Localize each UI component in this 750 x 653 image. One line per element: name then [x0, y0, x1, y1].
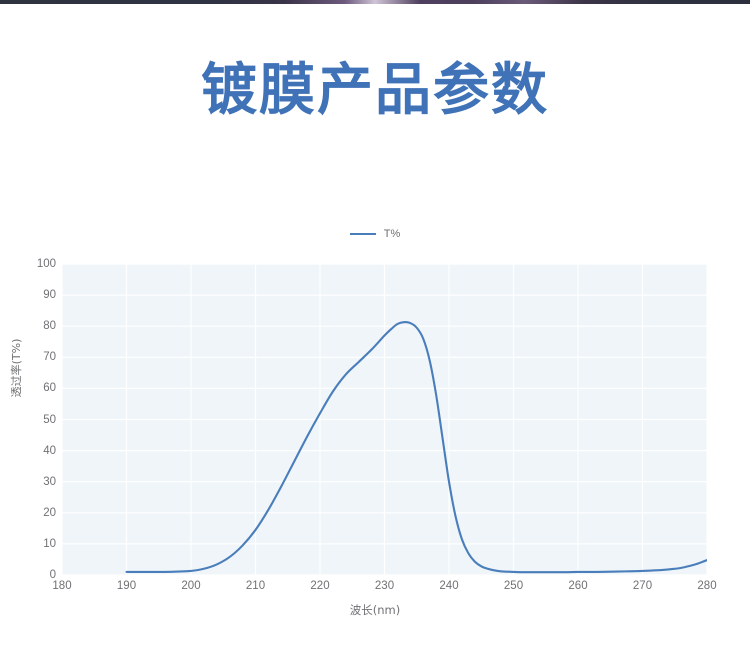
y-tick-label: 30	[16, 476, 56, 488]
x-axis-title: 波长(nm)	[0, 602, 750, 618]
x-tick-label: 220	[300, 580, 340, 592]
x-tick-label: 210	[236, 580, 276, 592]
chart-legend: T%	[0, 228, 750, 240]
plot-svg	[62, 264, 707, 575]
top-image-sliver	[0, 0, 750, 4]
transmittance-chart: T% 透过率(T%) 0102030405060708090100 180190…	[0, 210, 750, 620]
x-tick-label: 260	[558, 580, 598, 592]
y-tick-label: 80	[16, 320, 56, 332]
plot-area	[62, 264, 707, 575]
x-tick-label: 190	[107, 580, 147, 592]
x-tick-label: 250	[494, 580, 534, 592]
y-tick-label: 50	[16, 414, 56, 426]
x-tick-label: 280	[687, 580, 727, 592]
x-tick-label: 180	[42, 580, 82, 592]
x-tick-label: 240	[429, 580, 469, 592]
y-tick-label: 60	[16, 382, 56, 394]
y-tick-label: 10	[16, 538, 56, 550]
x-tick-label: 200	[171, 580, 211, 592]
grid-lines	[62, 264, 707, 575]
x-tick-label: 270	[623, 580, 663, 592]
y-tick-label: 70	[16, 351, 56, 363]
y-tick-label: 20	[16, 507, 56, 519]
legend-series-label: T%	[384, 228, 401, 240]
series-line-T	[127, 322, 708, 572]
legend-line-swatch	[350, 233, 376, 235]
page-title: 镀膜产品参数	[0, 62, 750, 121]
x-tick-label: 230	[365, 580, 405, 592]
y-tick-label: 90	[16, 289, 56, 301]
y-tick-label: 100	[16, 258, 56, 270]
page-root: 镀膜产品参数 T% 透过率(T%) 0102030405060708090100…	[0, 0, 750, 653]
y-tick-label: 40	[16, 445, 56, 457]
